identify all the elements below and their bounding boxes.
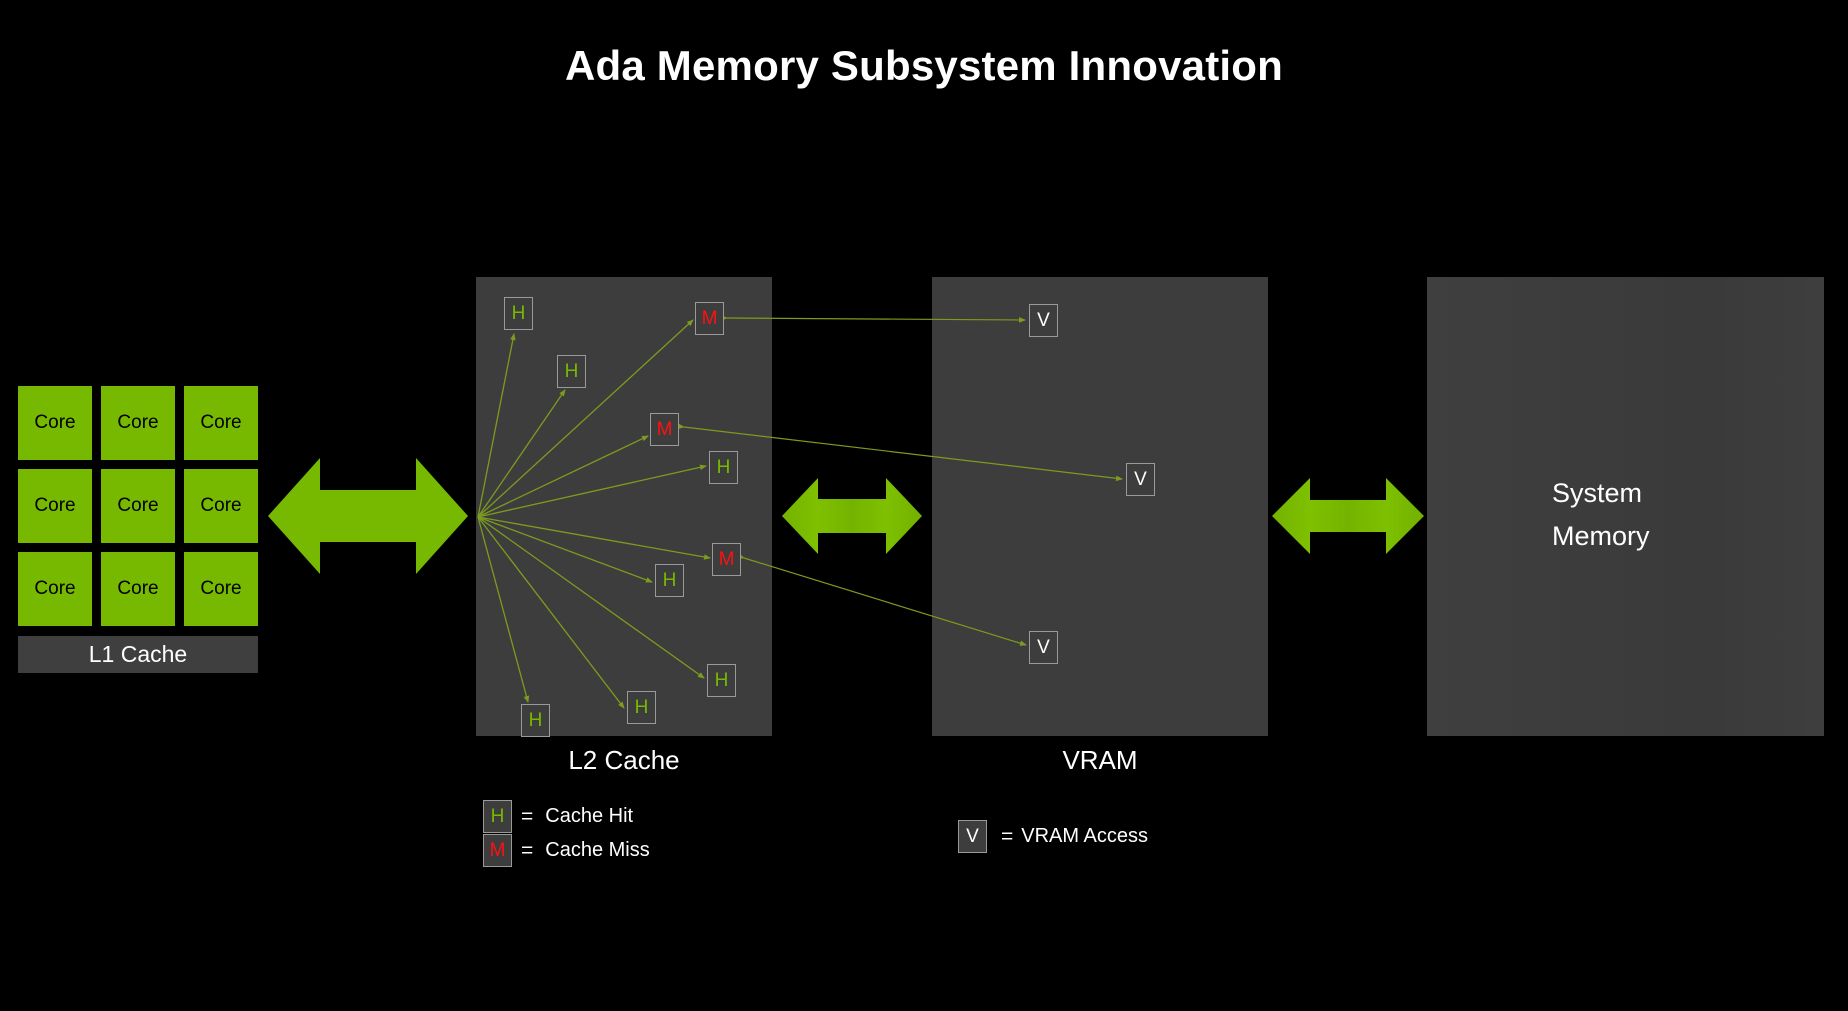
vram-access-marker: V — [1126, 463, 1155, 496]
system-memory-label: System Memory — [1552, 472, 1650, 558]
legend-miss-symbol: M — [483, 834, 512, 867]
cache-hit-marker: H — [521, 704, 550, 737]
cache-miss-marker: M — [650, 413, 679, 446]
legend-vram-label: VRAM Access — [1021, 825, 1148, 848]
core-cell: Core — [18, 469, 92, 543]
core-cell: Core — [101, 552, 175, 626]
cache-miss-marker: M — [712, 543, 741, 576]
slide-canvas: Ada Memory Subsystem Innovation Core Cor… — [0, 0, 1848, 1011]
cache-hit-marker: H — [627, 691, 656, 724]
cache-hit-marker: H — [557, 355, 586, 388]
vram-access-marker: V — [1029, 631, 1058, 664]
core-cell: Core — [101, 469, 175, 543]
core-cell: Core — [18, 552, 92, 626]
cache-hit-marker: H — [504, 297, 533, 330]
legend-miss-label: Cache Miss — [545, 839, 649, 862]
legend-miss-equals: = — [521, 839, 533, 863]
legend-hit-label: Cache Hit — [545, 805, 633, 828]
cache-hit-marker: H — [655, 564, 684, 597]
core-cell: Core — [184, 386, 258, 460]
legend-vram-access: V = VRAM Access — [958, 820, 1148, 853]
core-cell: Core — [184, 469, 258, 543]
l2-to-vram-arrow — [782, 472, 922, 560]
page-title: Ada Memory Subsystem Innovation — [0, 42, 1848, 90]
l2-cache-caption: L2 Cache — [476, 745, 772, 776]
core-cell: Core — [184, 552, 258, 626]
legend-vram-equals: = — [1001, 825, 1013, 849]
core-grid: Core Core Core Core Core Core Core Core … — [18, 386, 258, 626]
legend-cache-hit: H = Cache Hit — [483, 800, 633, 833]
cache-miss-marker: M — [695, 302, 724, 335]
legend-cache-miss: M = Cache Miss — [483, 834, 650, 867]
cache-hit-marker: H — [707, 664, 736, 697]
cores-to-l2-arrow — [268, 450, 468, 582]
vram-panel — [932, 277, 1268, 736]
vram-to-system-arrow — [1272, 474, 1424, 558]
core-cell: Core — [18, 386, 92, 460]
vram-access-marker: V — [1029, 304, 1058, 337]
vram-caption: VRAM — [932, 745, 1268, 776]
core-cell: Core — [101, 386, 175, 460]
l1-cache-bar: L1 Cache — [18, 636, 258, 673]
legend-hit-symbol: H — [483, 800, 512, 833]
cache-hit-marker: H — [709, 451, 738, 484]
legend-vram-symbol: V — [958, 820, 987, 853]
legend-hit-equals: = — [521, 805, 533, 829]
